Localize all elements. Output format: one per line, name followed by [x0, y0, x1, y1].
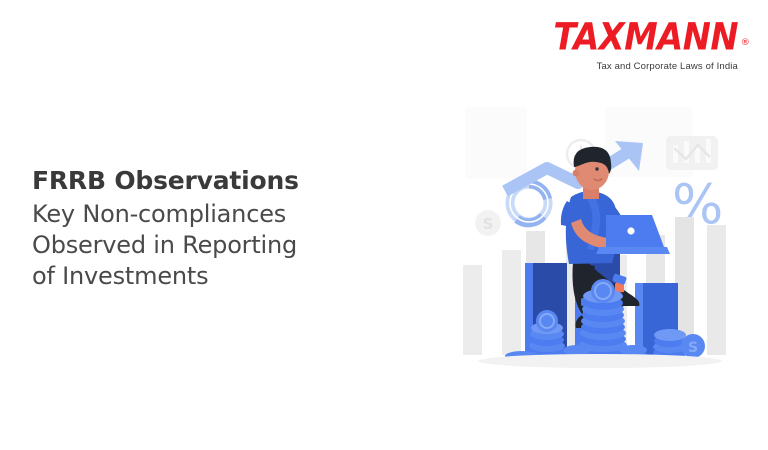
registered-trademark-icon: ® — [741, 39, 750, 48]
page-subtitle-line-2: Observed in Reporting — [32, 231, 297, 259]
svg-text:S: S — [688, 340, 698, 356]
background-bar — [463, 265, 482, 355]
page-subtitle-line-3: of Investments — [32, 262, 208, 290]
background-bar — [707, 225, 726, 355]
line-chart-card-icon — [666, 136, 718, 170]
ground-shadow — [478, 354, 722, 368]
headline-block: FRRB Observations Key Non-compliances Ob… — [32, 165, 392, 293]
poster-canvas: TAXMANN ® Tax and Corporate Laws of Indi… — [0, 0, 768, 450]
brand-logo: TAXMANN ® Tax and Corporate Laws of Indi… — [557, 22, 738, 72]
dollar-coin-icon: S — [475, 210, 501, 236]
page-title: FRRB Observations — [32, 165, 392, 197]
hero-illustration: S % — [455, 105, 755, 370]
brand-wordmark-text: TAXMANN — [553, 15, 738, 59]
coin-stack-right: S — [653, 329, 705, 359]
background-bar — [502, 250, 521, 355]
background-panel-left — [465, 107, 527, 179]
page-subtitle: Key Non-compliances Observed in Reportin… — [32, 199, 392, 293]
page-subtitle-line-1: Key Non-compliances — [32, 200, 286, 228]
svg-text:S: S — [483, 215, 494, 233]
brand-tagline: Tax and Corporate Laws of India — [557, 62, 738, 72]
laptop-icon — [596, 215, 670, 254]
brand-wordmark: TAXMANN ® — [553, 18, 738, 55]
